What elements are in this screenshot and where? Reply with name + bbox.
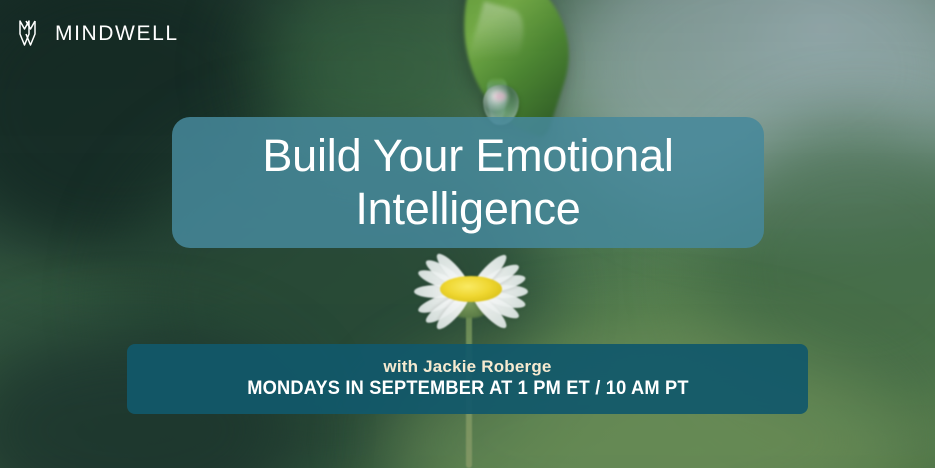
title-panel: Build Your Emotional Intelligence <box>172 117 764 248</box>
presenter-name: with Jackie Roberge <box>383 357 551 377</box>
page-title: Build Your Emotional Intelligence <box>172 130 764 234</box>
event-schedule: MONDAYS IN SEPTEMBER AT 1 PM ET / 10 AM … <box>247 378 689 401</box>
event-info-banner: with Jackie Roberge MONDAYS IN SEPTEMBER… <box>127 344 808 414</box>
brand-name: MINDWELL <box>55 23 179 44</box>
brand-logo[interactable]: MINDWELL <box>16 18 179 48</box>
mindwell-diamond-mark-icon <box>16 18 46 48</box>
promo-banner: MINDWELL Build Your Emotional Intelligen… <box>0 0 935 468</box>
